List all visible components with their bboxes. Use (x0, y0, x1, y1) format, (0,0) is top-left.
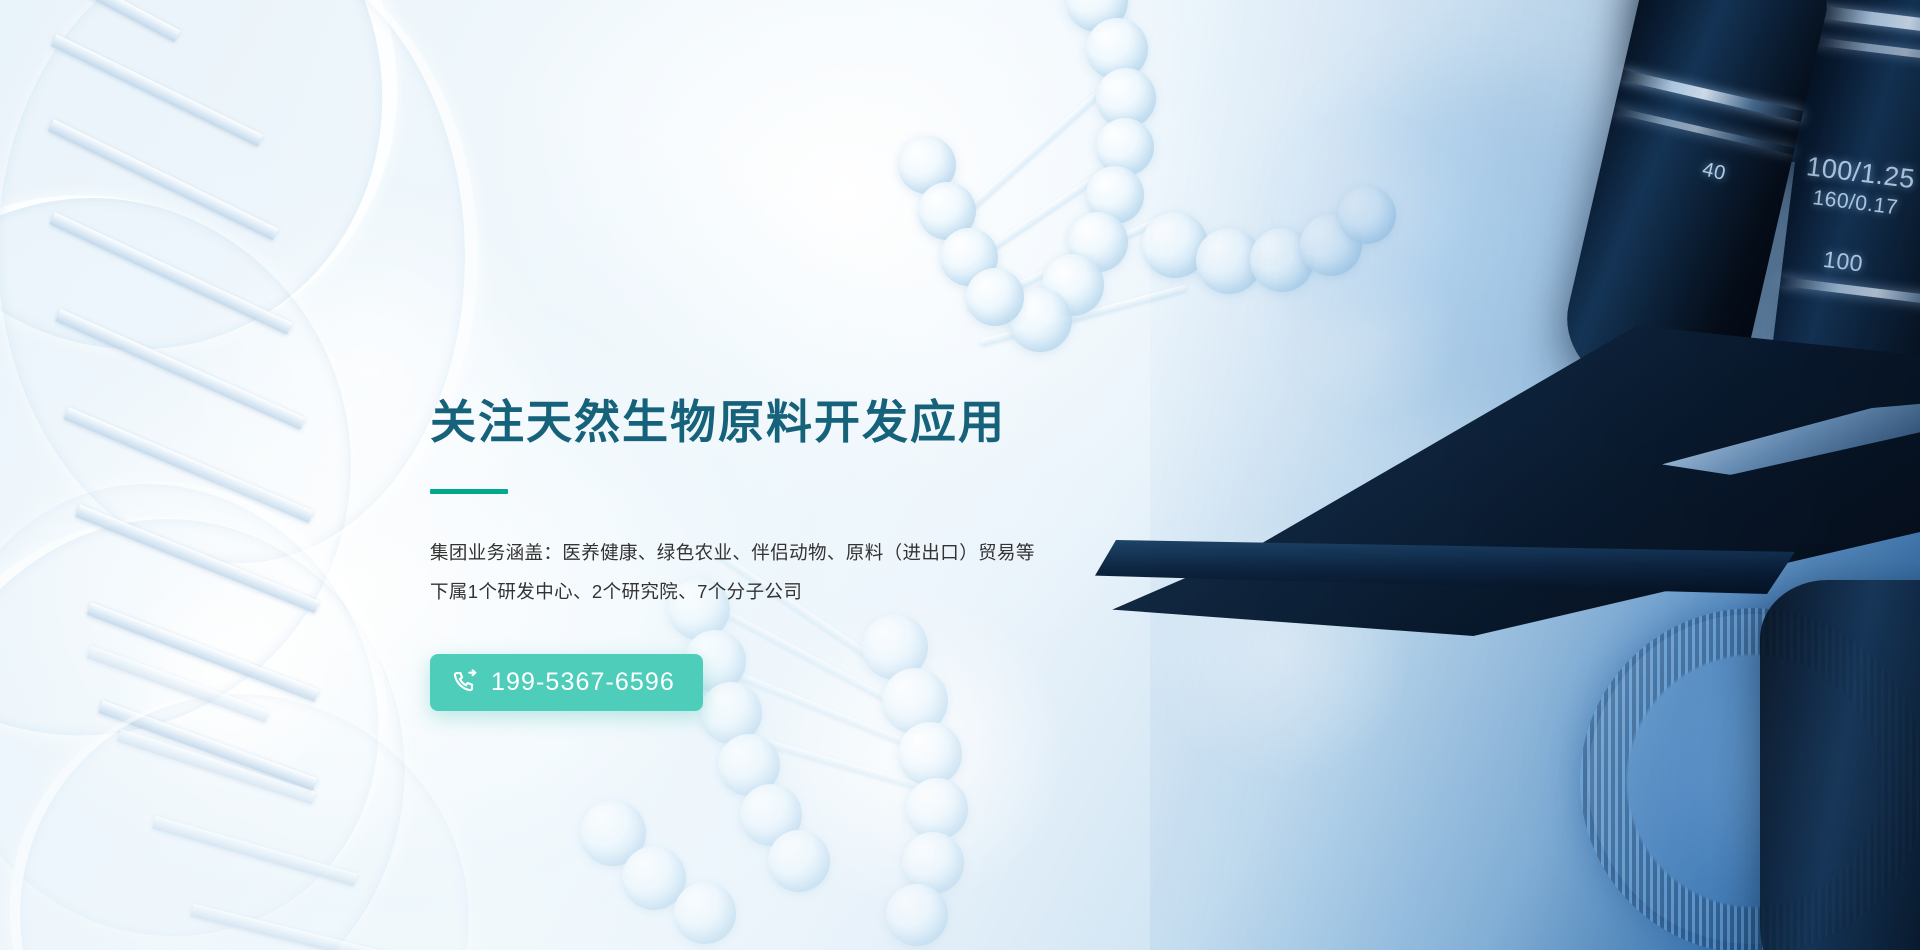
hero-content: 关注天然生物原料开发应用 集团业务涵盖：医养健康、绿色农业、伴侣动物、原料（进出… (430, 396, 1330, 711)
phone-forward-icon (452, 669, 479, 696)
title-divider (430, 489, 508, 494)
hero-description: 集团业务涵盖：医养健康、绿色农业、伴侣动物、原料（进出口）贸易等 下属1个研发中… (430, 534, 1330, 612)
phone-cta-button[interactable]: 199-5367-6596 (430, 654, 703, 711)
page-title: 关注天然生物原料开发应用 (430, 396, 1330, 449)
hero-description-line: 下属1个研发中心、2个研究院、7个分子公司 (430, 573, 1330, 612)
phone-number-label: 199-5367-6596 (491, 670, 675, 695)
bokeh-highlight (120, 560, 350, 790)
hero-description-line: 集团业务涵盖：医养健康、绿色农业、伴侣动物、原料（进出口）贸易等 (430, 534, 1330, 573)
hero-banner: 100/1.25 160/0.17 100 40 (0, 0, 1920, 950)
